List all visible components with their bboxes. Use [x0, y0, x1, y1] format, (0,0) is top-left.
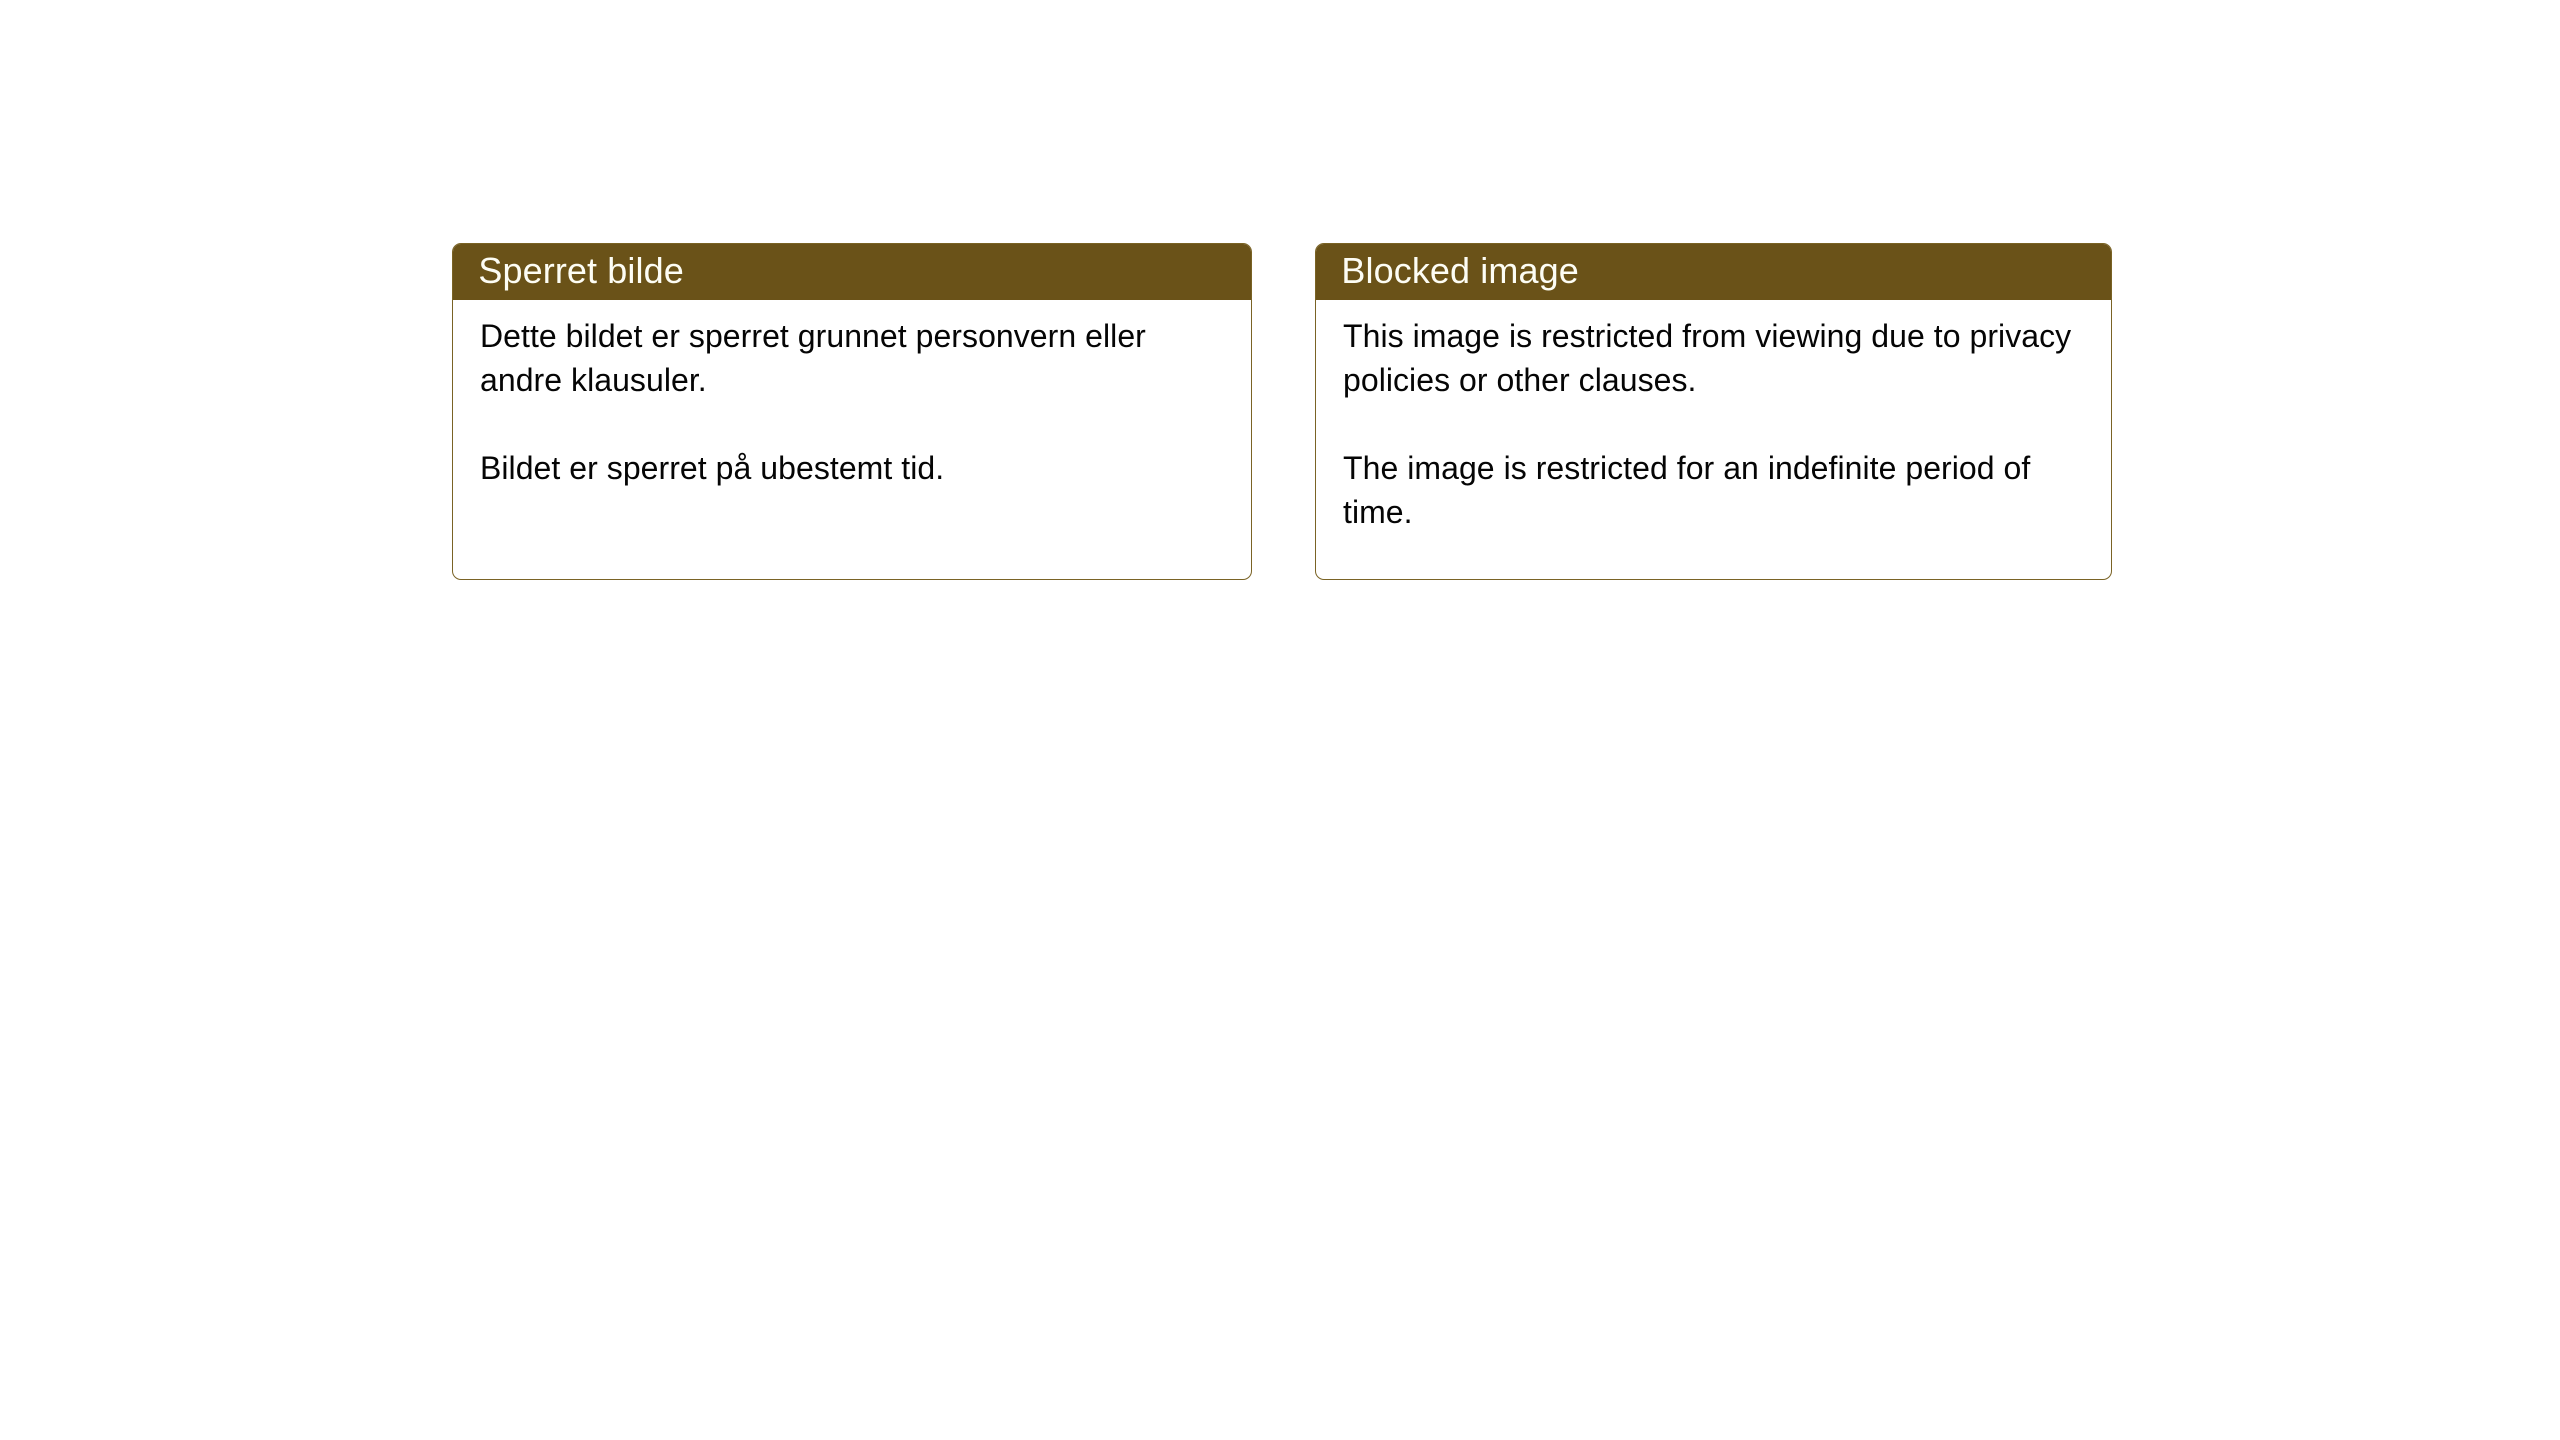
- card-header-no: Sperret bilde: [452, 243, 1252, 300]
- page-canvas: Sperret bilde Dette bildet er sperret gr…: [0, 0, 2560, 1440]
- card-title-no: Sperret bilde: [478, 251, 683, 291]
- blocked-image-notice-card-en: Blocked image This image is restricted f…: [1315, 243, 2112, 580]
- card-body-en: This image is restricted from viewing du…: [1316, 300, 2111, 534]
- card-paragraph-no-1: Dette bildet er sperret grunnet personve…: [480, 314, 1227, 402]
- blocked-image-notice-card-no: Sperret bilde Dette bildet er sperret gr…: [452, 243, 1252, 580]
- card-body-no: Dette bildet er sperret grunnet personve…: [453, 300, 1251, 490]
- card-paragraph-no-2: Bildet er sperret på ubestemt tid.: [480, 446, 1227, 490]
- card-paragraph-en-1: This image is restricted from viewing du…: [1343, 314, 2087, 402]
- card-header-en: Blocked image: [1315, 243, 2112, 300]
- card-title-en: Blocked image: [1341, 251, 1578, 291]
- card-paragraph-en-2: The image is restricted for an indefinit…: [1343, 446, 2087, 534]
